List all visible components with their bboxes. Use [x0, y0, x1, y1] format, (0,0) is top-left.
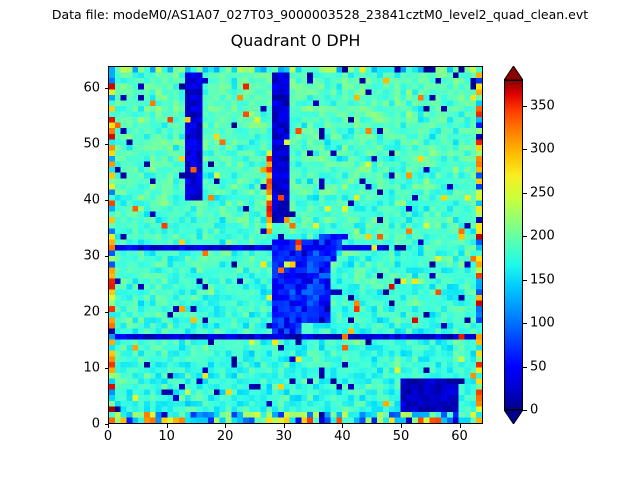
y-tick-mark	[105, 256, 109, 257]
colorbar-tick-mark	[523, 149, 527, 150]
colorbar-gradient	[505, 81, 522, 409]
detector-heatmap-image	[109, 67, 482, 423]
y-tick-mark	[105, 368, 109, 369]
y-tick-label: 0	[0, 417, 100, 432]
plot-title: Quadrant 0 DPH	[0, 31, 591, 50]
colorbar-tick-mark	[523, 106, 527, 107]
x-tick-mark	[342, 424, 343, 428]
y-tick-mark	[105, 424, 109, 425]
colorbar-tick-label: 100	[530, 316, 555, 331]
x-tick-mark	[225, 424, 226, 428]
colorbar-tick-label: 300	[530, 142, 555, 157]
colorbar-tick-mark	[523, 193, 527, 194]
y-tick-label: 20	[0, 305, 100, 320]
x-tick-label: 40	[334, 429, 351, 444]
x-tick-mark	[108, 424, 109, 428]
colorbar-tick-label: 200	[530, 229, 555, 244]
y-tick-mark	[105, 312, 109, 313]
colorbar-tick-mark	[523, 367, 527, 368]
colorbar-tick-label: 50	[530, 359, 547, 374]
x-tick-mark	[167, 424, 168, 428]
colorbar-tick-label: 0	[530, 403, 538, 418]
heatmap-axes	[108, 66, 483, 424]
colorbar-extend-high-arrow	[504, 66, 523, 80]
y-tick-label: 40	[0, 193, 100, 208]
data-file-caption: Data file: modeM0/AS1A07_027T03_90000035…	[0, 7, 640, 22]
colorbar: 050100150200250300350	[504, 66, 523, 424]
y-tick-label: 30	[0, 249, 100, 264]
x-tick-label: 30	[276, 429, 293, 444]
x-tick-label: 50	[393, 429, 410, 444]
x-tick-mark	[284, 424, 285, 428]
x-tick-label: 0	[104, 429, 112, 444]
colorbar-tick-mark	[523, 410, 527, 411]
colorbar-extend-low-arrow	[504, 410, 523, 424]
colorbar-tick-label: 350	[530, 99, 555, 114]
colorbar-tick-mark	[523, 323, 527, 324]
y-tick-label: 10	[0, 361, 100, 376]
x-tick-label: 20	[217, 429, 234, 444]
colorbar-tick-label: 150	[530, 272, 555, 287]
y-tick-label: 50	[0, 137, 100, 152]
matplotlib-figure: Data file: modeM0/AS1A07_027T03_90000035…	[0, 0, 640, 480]
y-tick-label: 60	[0, 81, 100, 96]
y-tick-mark	[105, 88, 109, 89]
colorbar-tick-mark	[523, 280, 527, 281]
x-tick-label: 60	[451, 429, 468, 444]
colorbar-tick-mark	[523, 236, 527, 237]
colorbar-tick-label: 250	[530, 185, 555, 200]
x-tick-mark	[460, 424, 461, 428]
colorbar-gradient-body	[504, 80, 523, 410]
y-tick-mark	[105, 200, 109, 201]
x-tick-mark	[401, 424, 402, 428]
y-tick-mark	[105, 144, 109, 145]
x-tick-label: 10	[158, 429, 175, 444]
